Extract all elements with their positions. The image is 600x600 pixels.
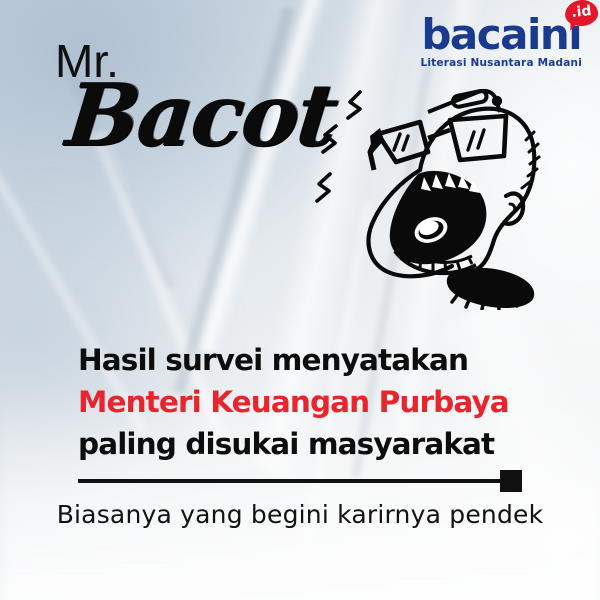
headline-line-2: Menteri Keuangan Purbaya xyxy=(78,382,548,424)
shouting-man-icon xyxy=(300,78,562,310)
page-title: Mr. Bacot xyxy=(55,38,335,155)
poster-canvas: bacaini .id Literasi Nusantara Madani Mr… xyxy=(0,0,600,600)
headline-line-1: Hasil survei menyatakan xyxy=(78,340,548,382)
bacaini-logo[interactable]: bacaini .id Literasi Nusantara Madani xyxy=(420,14,582,69)
title-name: Bacot xyxy=(63,76,339,155)
headline: Hasil survei menyatakan Menteri Keuangan… xyxy=(78,340,548,466)
divider-square-cap xyxy=(500,470,522,492)
divider xyxy=(78,470,522,494)
headline-line-3: paling disukai masyarakat xyxy=(78,424,548,466)
logo-wordmark: bacaini xyxy=(421,14,581,56)
caption: Biasanya yang begini karirnya pendek xyxy=(0,500,600,529)
divider-line xyxy=(78,479,500,483)
logo-tagline: Literasi Nusantara Madani xyxy=(420,58,582,69)
